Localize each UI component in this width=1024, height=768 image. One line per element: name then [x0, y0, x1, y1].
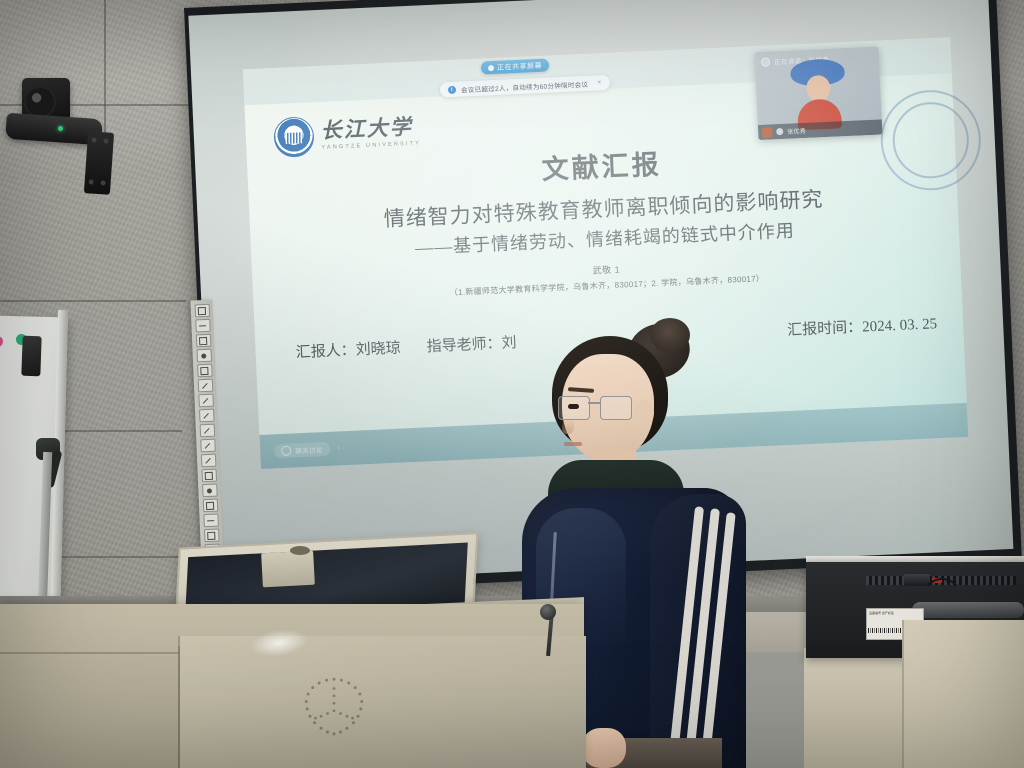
wall-seam [0, 300, 186, 302]
participant-video-thumbnail[interactable]: 正在讲话：张优秀 张优秀 [755, 47, 883, 141]
right-desk-panel [902, 620, 1024, 768]
wb-tool-frame-icon[interactable] [197, 364, 213, 378]
share-dot-icon [488, 65, 494, 71]
chevron-left-icon[interactable]: ‹ [338, 445, 340, 451]
glasses-lens-right [600, 396, 632, 420]
university-wordmark: 长江大学 YANGTZE UNIVERSITY [320, 116, 421, 150]
hand [582, 728, 626, 768]
mount-screw [103, 138, 108, 143]
wb-tool-pen-blue-icon[interactable] [199, 409, 215, 423]
wb-tool-pen-green-icon[interactable] [198, 394, 214, 408]
wb-tool-pen-red-icon[interactable] [197, 379, 213, 393]
lectern-front-panel [178, 636, 586, 768]
chat-control-label: 聊天讨论 [295, 444, 323, 455]
sharing-badge-label: 正在共享屏幕 [497, 60, 542, 72]
date-label: 汇报时间： [787, 320, 863, 339]
presenter-field: 汇报人：刘晓琼 [295, 337, 401, 363]
lectern-seam [0, 652, 178, 654]
date-value: 2024. 03. 25 [862, 316, 938, 335]
info-icon: i [448, 85, 456, 93]
university-seal-icon [273, 116, 315, 158]
wb-tool-line-icon[interactable] [195, 319, 211, 333]
wb-tool-clear-icon[interactable] [203, 514, 219, 528]
mount-screw [100, 180, 105, 185]
lectern-hinge [261, 551, 315, 588]
lectern-cable-grommet [290, 546, 310, 555]
asset-label-text: 设备编号 资产标签 [869, 611, 894, 615]
lectern-logo-icon [286, 670, 382, 744]
mic-icon [761, 57, 770, 66]
wb-tool-pen-black-icon[interactable] [199, 424, 215, 438]
close-icon[interactable]: × [597, 79, 602, 86]
cable-conduit [912, 602, 1024, 618]
participant-name: 张优秀 [787, 126, 806, 136]
presenter-label: 汇报人： [295, 343, 356, 362]
eye [568, 404, 579, 409]
avatar [762, 127, 772, 137]
wb-tool-save-icon[interactable] [202, 499, 218, 513]
university-logo: 长江大学 YANGTZE UNIVERSITY [273, 111, 421, 158]
chat-control-chip[interactable]: 聊天讨论 [274, 442, 330, 459]
presenter-name: 刘晓琼 [355, 341, 401, 359]
university-name-cn: 长江大学 [320, 116, 421, 142]
wb-tool-highlighter-icon[interactable] [200, 439, 216, 453]
whiteboard-eraser [21, 336, 41, 377]
mouth [564, 442, 582, 446]
slide-date-field: 汇报时间：2024. 03. 25 [787, 312, 938, 340]
lectern-seam [178, 646, 180, 768]
camera-lens-icon [24, 86, 56, 118]
ear [634, 400, 654, 426]
wb-tool-eraser-icon[interactable] [200, 454, 216, 468]
nose [562, 418, 574, 434]
wb-tool-undo-icon[interactable] [201, 469, 217, 483]
microphone-head-icon [540, 604, 556, 620]
avatar-face [806, 75, 831, 102]
hair-bun-top [650, 318, 690, 352]
slide-meta-left: 汇报人：刘晓琼 指导老师：刘 [295, 331, 517, 362]
wb-tool-shape-icon[interactable] [195, 334, 211, 348]
mount-screw [88, 179, 93, 184]
mic-icon [776, 128, 783, 135]
mount-screw [91, 137, 96, 142]
wb-tool-redo-icon[interactable] [202, 484, 218, 498]
wb-tool-select-icon[interactable] [194, 304, 210, 318]
wb-tool-dot-icon[interactable] [196, 349, 212, 363]
chat-icon [281, 446, 291, 456]
screenshot-root: 长江大学 YANGTZE UNIVERSITY 文献汇报 情绪智力对特殊教育教师… [0, 0, 1024, 768]
camera-wall-mount [84, 131, 114, 195]
wb-tool-page-icon[interactable] [204, 529, 220, 543]
advisor-label: 指导老师： [426, 336, 502, 355]
glasses-bridge [588, 402, 600, 404]
camera-status-led [58, 126, 63, 131]
